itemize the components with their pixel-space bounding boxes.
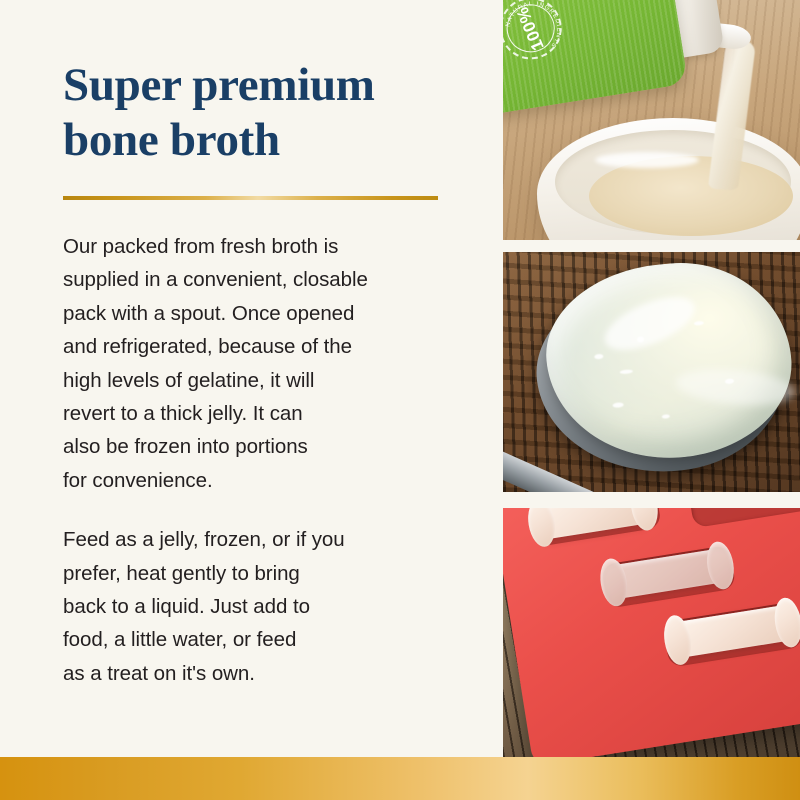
gold-divider-rule — [63, 196, 438, 200]
svg-text:NATURAL INGREDIENTS: NATURAL INGREDIENTS — [503, 0, 569, 63]
photo-bone-mould — [503, 508, 800, 757]
column-divider — [500, 0, 503, 757]
jelly-speck — [694, 321, 704, 326]
silicone-bone-mould-tray — [503, 508, 800, 757]
jelly-highlight-b — [674, 365, 797, 409]
paragraph-1-line-5: high levels of gelatine, it will — [63, 364, 445, 397]
bowl-highlight — [595, 152, 699, 168]
paragraph-2-line-4: food, a little water, or feed — [63, 623, 445, 656]
paragraph-1-line-7: also be frozen into portions — [63, 430, 445, 463]
page-title: Super premium bone broth — [63, 58, 445, 169]
page-title-line-2: bone broth — [63, 113, 445, 168]
photo-pouring-broth: 100% NATURAL INGREDIENTS — [503, 0, 800, 240]
jelly-speck — [612, 402, 623, 408]
footer-gold-bar — [0, 757, 800, 800]
bowl-rim — [555, 130, 791, 234]
seal-arc-text: NATURAL INGREDIENTS — [503, 0, 574, 70]
paragraph-1: Our packed from fresh broth is supplied … — [63, 230, 445, 497]
page-title-line-1: Super premium — [63, 58, 445, 113]
paragraph-2-line-1: Feed as a jelly, frozen, or if you — [63, 523, 445, 556]
jelly-highlight-a — [598, 286, 702, 360]
paragraph-1-line-2: supplied in a convenient, closable — [63, 263, 445, 296]
body-copy: Our packed from fresh broth is supplied … — [63, 230, 445, 690]
paragraph-2-line-3: back to a liquid. Just add to — [63, 590, 445, 623]
natural-ingredients-seal-icon: 100% NATURAL INGREDIENTS — [503, 0, 571, 69]
paragraph-1-line-3: pack with a spout. Once opened — [63, 297, 445, 330]
paragraph-2-line-2: prefer, heat gently to bring — [63, 557, 445, 590]
photo-jelly-spoon — [503, 252, 800, 492]
paragraph-1-line-4: and refrigerated, because of the — [63, 330, 445, 363]
jelly-speck — [662, 414, 670, 419]
mould-cavity — [688, 508, 800, 528]
promo-panel: Super premium bone broth Our packed from… — [0, 0, 800, 800]
jelly-speck — [620, 369, 633, 374]
jelly-speck — [594, 354, 603, 360]
broth-liquid-in-bowl — [589, 156, 793, 236]
paragraph-1-line-6: revert to a thick jelly. It can — [63, 397, 445, 430]
paragraph-2: Feed as a jelly, frozen, or if you prefe… — [63, 523, 445, 690]
image-column: 100% NATURAL INGREDIENTS — [503, 0, 800, 757]
paragraph-1-line-1: Our packed from fresh broth is — [63, 230, 445, 263]
text-column: Super premium bone broth Our packed from… — [0, 0, 503, 757]
paragraph-1-line-8: for convenience. — [63, 464, 445, 497]
paragraph-2-line-5: as a treat on it's own. — [63, 657, 445, 690]
